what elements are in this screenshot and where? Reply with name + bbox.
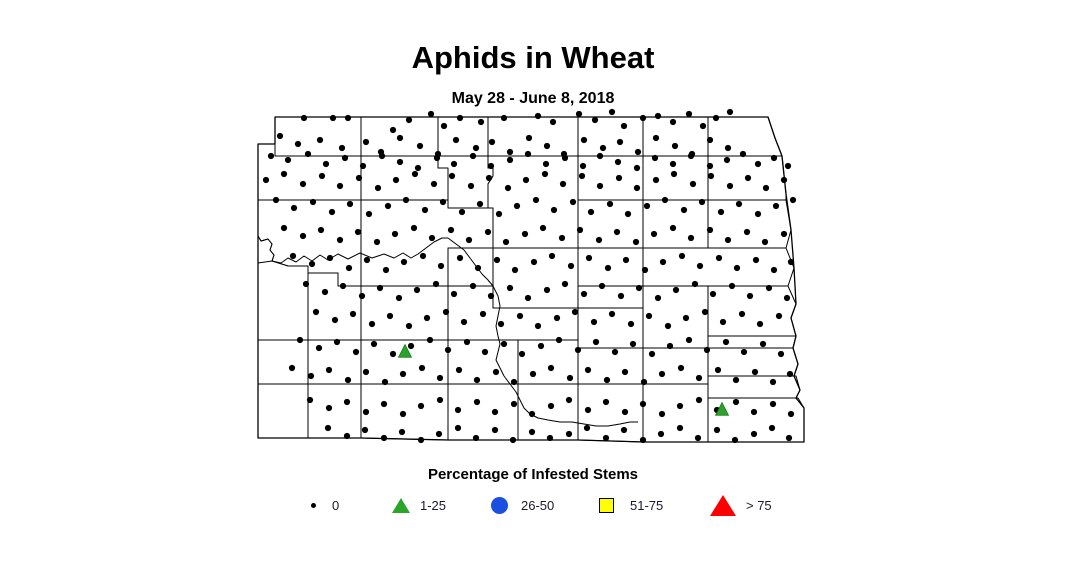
sample-point[interactable] [383,267,389,273]
sample-point[interactable] [340,283,346,289]
sample-point[interactable] [616,175,622,181]
sample-point[interactable] [655,113,661,119]
sample-point[interactable] [678,365,684,371]
north-dakota-map[interactable] [248,108,818,453]
sample-point[interactable] [501,115,507,121]
sample-point[interactable] [660,259,666,265]
sample-point[interactable] [529,411,535,417]
sample-point[interactable] [323,161,329,167]
sample-point[interactable] [710,291,716,297]
sample-point[interactable] [733,399,739,405]
sample-point[interactable] [788,259,794,265]
sample-point[interactable] [390,351,396,357]
sample-point[interactable] [771,155,777,161]
sample-point[interactable] [397,135,403,141]
sample-point[interactable] [790,197,796,203]
sample-point[interactable] [570,199,576,205]
sample-point[interactable] [566,431,572,437]
sample-point[interactable] [290,253,296,259]
sample-point[interactable] [470,153,476,159]
sample-point[interactable] [651,231,657,237]
sample-point[interactable] [505,185,511,191]
sample-point[interactable] [326,367,332,373]
sample-point[interactable] [318,227,324,233]
sample-point[interactable] [640,115,646,121]
sample-point[interactable] [473,145,479,151]
sample-point[interactable] [559,235,565,241]
sample-point[interactable] [517,313,523,319]
sample-point[interactable] [400,371,406,377]
sample-point[interactable] [781,177,787,183]
sample-point[interactable] [729,283,735,289]
sample-point[interactable] [713,115,719,121]
sample-point[interactable] [345,377,351,383]
sample-point[interactable] [785,163,791,169]
sample-point[interactable] [347,201,353,207]
sample-point[interactable] [344,399,350,405]
sample-point[interactable] [551,207,557,213]
sample-point[interactable] [586,255,592,261]
sample-point[interactable] [585,367,591,373]
sample-point[interactable] [696,375,702,381]
sample-point[interactable] [745,175,751,181]
sample-point[interactable] [488,293,494,299]
sample-point[interactable] [603,435,609,441]
sample-point[interactable] [418,403,424,409]
sample-point[interactable] [544,143,550,149]
sample-point[interactable] [429,235,435,241]
sample-point[interactable] [577,227,583,233]
sample-point[interactable] [322,289,328,295]
sample-point[interactable] [702,309,708,315]
sample-point[interactable] [493,369,499,375]
sample-point[interactable] [334,339,340,345]
sample-point[interactable] [345,115,351,121]
sample-point[interactable] [681,207,687,213]
sample-point[interactable] [319,173,325,179]
sample-point[interactable] [369,321,375,327]
sample-point[interactable] [316,345,322,351]
sample-point[interactable] [576,111,582,117]
sample-point[interactable] [339,145,345,151]
sample-point[interactable] [781,231,787,237]
sample-point[interactable] [653,177,659,183]
sample-point[interactable] [723,339,729,345]
sample-point[interactable] [634,185,640,191]
sample-point[interactable] [692,281,698,287]
sample-point[interactable] [437,397,443,403]
sample-point[interactable] [636,285,642,291]
sample-point[interactable] [492,427,498,433]
sample-point[interactable] [612,349,618,355]
sample-point[interactable] [658,431,664,437]
sample-point[interactable] [418,437,424,443]
sample-point[interactable] [501,341,507,347]
sample-point[interactable] [390,127,396,133]
sample-point[interactable] [762,239,768,245]
sample-point[interactable] [679,253,685,259]
sample-point[interactable] [585,407,591,413]
sample-point[interactable] [665,323,671,329]
sample-point[interactable] [727,183,733,189]
sample-point[interactable] [507,157,513,163]
sample-point[interactable] [399,429,405,435]
sample-point[interactable] [739,311,745,317]
sample-point[interactable] [741,349,747,355]
sample-point[interactable] [415,165,421,171]
sample-point[interactable] [580,163,586,169]
sample-point[interactable] [486,175,492,181]
sample-point[interactable] [575,347,581,353]
sample-point[interactable] [401,259,407,265]
sample-point[interactable] [641,379,647,385]
sample-point[interactable] [704,347,710,353]
sample-point[interactable] [720,319,726,325]
sample-point[interactable] [727,109,733,115]
sample-point[interactable] [419,365,425,371]
sample-point[interactable] [531,259,537,265]
sample-point[interactable] [494,257,500,263]
sample-point[interactable] [599,283,605,289]
sample-point[interactable] [770,379,776,385]
sample-point[interactable] [457,255,463,261]
sample-point[interactable] [625,211,631,217]
sample-point[interactable] [337,237,343,243]
sample-point[interactable] [355,229,361,235]
sample-point[interactable] [672,143,678,149]
sample-point[interactable] [364,257,370,263]
sample-point[interactable] [560,181,566,187]
sample-point[interactable] [438,263,444,269]
sample-point[interactable] [688,153,694,159]
sample-point[interactable] [579,173,585,179]
sample-point[interactable] [603,399,609,405]
sample-point[interactable] [507,285,513,291]
sample-point[interactable] [313,309,319,315]
sample-point[interactable] [433,281,439,287]
sample-point[interactable] [470,283,476,289]
sample-point[interactable] [473,435,479,441]
sample-point[interactable] [596,237,602,243]
sample-point[interactable] [478,119,484,125]
sample-point[interactable] [707,163,713,169]
sample-point[interactable] [542,171,548,177]
sample-point[interactable] [326,405,332,411]
sample-point[interactable] [310,199,316,205]
sample-point[interactable] [519,351,525,357]
sample-point[interactable] [330,115,336,121]
sample-point[interactable] [667,343,673,349]
sample-point[interactable] [285,157,291,163]
sample-point[interactable] [350,311,356,317]
sample-point[interactable] [688,235,694,241]
sample-point[interactable] [755,161,761,167]
sample-point[interactable] [757,321,763,327]
sample-point[interactable] [696,397,702,403]
sample-point[interactable] [771,267,777,273]
sample-point[interactable] [784,295,790,301]
sample-point[interactable] [547,435,553,441]
sample-point[interactable] [770,401,776,407]
sample-point[interactable] [512,267,518,273]
sample-point[interactable] [740,151,746,157]
sample-point[interactable] [332,317,338,323]
sample-point[interactable] [381,435,387,441]
sample-point[interactable] [533,197,539,203]
sample-point[interactable] [427,337,433,343]
sample-point[interactable] [751,431,757,437]
sample-point[interactable] [640,437,646,443]
sample-point[interactable] [773,203,779,209]
sample-point[interactable] [695,435,701,441]
sample-point[interactable] [778,351,784,357]
sample-point[interactable] [673,287,679,293]
sample-point[interactable] [510,437,516,443]
sample-point[interactable] [535,323,541,329]
sample-point[interactable] [622,409,628,415]
sample-point[interactable] [538,343,544,349]
sample-point[interactable] [733,377,739,383]
sample-point[interactable] [511,379,517,385]
sample-point[interactable] [273,197,279,203]
sample-point[interactable] [281,225,287,231]
sample-point[interactable] [291,205,297,211]
sample-point[interactable] [556,337,562,343]
sample-point[interactable] [525,151,531,157]
sample-point[interactable] [489,139,495,145]
sample-point[interactable] [403,197,409,203]
sample-point[interactable] [609,311,615,317]
sample-point[interactable] [412,171,418,177]
sample-point[interactable] [529,429,535,435]
sample-point[interactable] [523,177,529,183]
sample-point[interactable] [385,203,391,209]
sample-point[interactable] [406,117,412,123]
sample-point[interactable] [653,135,659,141]
sample-point[interactable] [360,163,366,169]
sample-point[interactable] [300,233,306,239]
sample-point[interactable] [263,177,269,183]
sample-point[interactable] [736,201,742,207]
sample-point[interactable] [584,425,590,431]
sample-point[interactable] [436,431,442,437]
sample-point[interactable] [451,291,457,297]
sample-point[interactable] [622,369,628,375]
sample-point[interactable] [475,265,481,271]
sample-point[interactable] [492,409,498,415]
sample-point[interactable] [763,185,769,191]
sample-point[interactable] [787,371,793,377]
sample-point[interactable] [393,177,399,183]
sample-point[interactable] [734,265,740,271]
sample-point[interactable] [697,263,703,269]
sample-point[interactable] [567,375,573,381]
sample-point[interactable] [644,203,650,209]
sample-point[interactable] [363,369,369,375]
sample-point[interactable] [550,119,556,125]
sample-point[interactable] [411,225,417,231]
sample-point[interactable] [295,141,301,147]
sample-point[interactable] [646,313,652,319]
sample-point[interactable] [686,337,692,343]
sample-point[interactable] [387,313,393,319]
sample-point[interactable] [752,369,758,375]
sample-point[interactable] [431,181,437,187]
sample-point[interactable] [397,159,403,165]
sample-point[interactable] [414,287,420,293]
sample-point[interactable] [535,113,541,119]
sample-point[interactable] [371,341,377,347]
sample-point[interactable] [466,237,472,243]
sample-point[interactable] [379,153,385,159]
sample-point[interactable] [630,341,636,347]
sample-point[interactable] [572,309,578,315]
sample-point[interactable] [522,231,528,237]
sample-point[interactable] [392,231,398,237]
sample-point[interactable] [788,411,794,417]
legend-item-4[interactable]: > 75 [710,490,772,520]
sample-point[interactable] [670,161,676,167]
sample-point[interactable] [623,257,629,263]
sample-point[interactable] [420,253,426,259]
sample-point[interactable] [496,211,502,217]
sample-point[interactable] [714,427,720,433]
sample-point[interactable] [480,311,486,317]
sample-point[interactable] [662,197,668,203]
sample-point[interactable] [485,229,491,235]
sample-point[interactable] [308,373,314,379]
sample-point[interactable] [456,367,462,373]
sample-point[interactable] [605,265,611,271]
sample-point[interactable] [329,209,335,215]
sample-point[interactable] [455,425,461,431]
sample-point[interactable] [562,155,568,161]
sample-point[interactable] [562,281,568,287]
sample-point[interactable] [540,225,546,231]
sample-point[interactable] [507,149,513,155]
sample-point[interactable] [686,111,692,117]
sample-point[interactable] [755,211,761,217]
sample-point[interactable] [440,199,446,205]
sample-point[interactable] [659,371,665,377]
sample-point[interactable] [707,227,713,233]
sample-point[interactable] [448,227,454,233]
sample-point[interactable] [566,397,572,403]
sample-point[interactable] [309,261,315,267]
sample-point[interactable] [628,321,634,327]
sample-point[interactable] [457,115,463,121]
sample-point[interactable] [363,409,369,415]
sample-point[interactable] [337,183,343,189]
legend-item-1[interactable]: 1-25 [388,490,446,520]
sample-point[interactable] [363,139,369,145]
sample-point[interactable] [548,365,554,371]
sample-point[interactable] [406,323,412,329]
sample-point[interactable] [317,137,323,143]
sample-point[interactable] [588,209,594,215]
sample-point[interactable] [408,343,414,349]
sample-point[interactable] [503,239,509,245]
sample-point[interactable] [526,135,532,141]
sample-point[interactable] [356,175,362,181]
sample-point[interactable] [591,319,597,325]
sample-point[interactable] [344,433,350,439]
sample-point[interactable] [600,145,606,151]
sample-point[interactable] [437,375,443,381]
sample-point[interactable] [581,291,587,297]
sample-point[interactable] [375,185,381,191]
sample-point[interactable] [498,321,504,327]
sample-point[interactable] [434,155,440,161]
sample-point[interactable] [297,337,303,343]
sample-point[interactable] [769,425,775,431]
sample-point[interactable] [744,229,750,235]
sample-point[interactable] [725,237,731,243]
sample-point[interactable] [381,401,387,407]
sample-point[interactable] [449,173,455,179]
sample-point[interactable] [715,367,721,373]
sample-point[interactable] [634,165,640,171]
sample-point[interactable] [677,425,683,431]
legend-item-0[interactable]: 0 [300,490,339,520]
sample-point[interactable] [488,163,494,169]
sample-point[interactable] [303,281,309,287]
sample-point[interactable] [474,399,480,405]
sample-point[interactable] [614,229,620,235]
sample-point[interactable] [382,379,388,385]
sample-point[interactable] [751,409,757,415]
sample-point[interactable] [618,293,624,299]
sample-point[interactable] [455,407,461,413]
sample-point[interactable] [543,161,549,167]
sample-point[interactable] [300,181,306,187]
sample-point[interactable] [366,211,372,217]
sample-point[interactable] [707,137,713,143]
sample-point[interactable] [477,201,483,207]
sample-point[interactable] [677,403,683,409]
sample-point[interactable] [655,295,661,301]
sample-point[interactable] [474,377,480,383]
sample-point[interactable] [766,285,772,291]
sample-point[interactable] [617,139,623,145]
sample-point[interactable] [659,411,665,417]
sample-point[interactable] [708,173,714,179]
sample-point[interactable] [635,149,641,155]
sample-point[interactable] [353,349,359,355]
sample-point[interactable] [289,365,295,371]
sample-point[interactable] [525,295,531,301]
sample-point[interactable] [609,109,615,115]
sample-point[interactable] [453,137,459,143]
sample-point[interactable] [670,119,676,125]
sample-point[interactable] [786,435,792,441]
sample-point[interactable] [464,339,470,345]
sample-point[interactable] [568,263,574,269]
sample-point[interactable] [776,313,782,319]
sample-point[interactable] [362,427,368,433]
sample-point[interactable] [597,153,603,159]
sample-point[interactable] [604,377,610,383]
sample-point[interactable] [468,183,474,189]
legend-item-3[interactable]: 51-75 [593,490,663,520]
sample-point[interactable] [511,401,517,407]
sample-point[interactable] [374,239,380,245]
sample-point[interactable] [747,293,753,299]
sample-point[interactable] [445,347,451,353]
sample-point[interactable] [342,155,348,161]
sample-point[interactable] [725,145,731,151]
sample-point[interactable] [530,371,536,377]
